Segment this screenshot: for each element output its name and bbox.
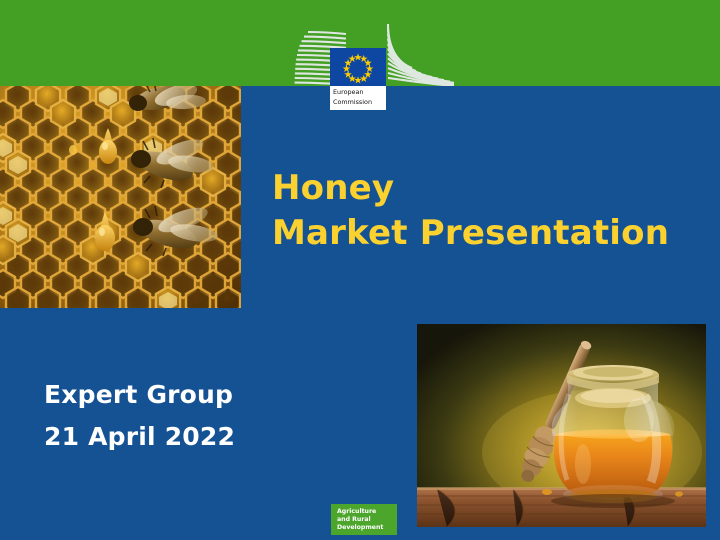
logo-caption: European Commission [330,86,386,110]
european-commission-logo: European Commission [294,24,454,112]
agri-line-2: and Rural [337,516,397,524]
eu-flag-icon [330,48,386,86]
agri-line-1: Agriculture [337,508,397,516]
honey-jar-image [417,324,706,527]
subtitle-line-2: 21 April 2022 [44,416,374,458]
dg-agri-logo-tag: Agriculture and Rural Development [331,504,397,535]
agri-line-3: Development [337,524,397,532]
logo-right-wing-icon [382,24,454,86]
presentation-slide: European Commission [0,0,720,540]
logo-caption-line1: European [333,88,386,98]
slide-subtitle: Expert Group 21 April 2022 [44,374,374,458]
subtitle-line-1: Expert Group [44,374,374,416]
logo-caption-line2: Commission [333,98,386,108]
honeycomb-bees-image [0,86,241,308]
slide-title: Honey Market Presentation [272,166,702,256]
title-line-2: Market Presentation [272,211,702,256]
title-line-1: Honey [272,166,702,211]
